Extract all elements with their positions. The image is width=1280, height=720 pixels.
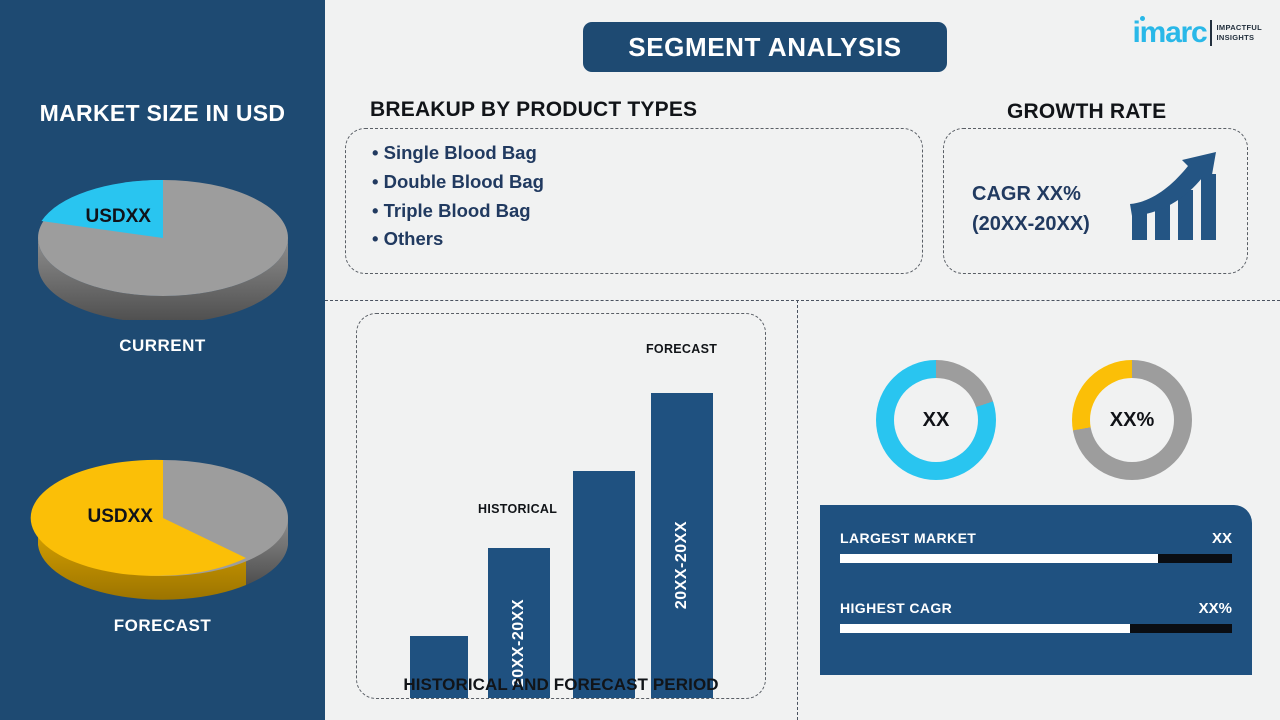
market-share-donut-center: XX xyxy=(894,378,978,462)
growth-arrow-bars-icon xyxy=(1126,146,1226,246)
largest-market-label: LARGEST MARKET xyxy=(840,530,976,546)
cagr-donut-center: XX% xyxy=(1090,378,1174,462)
highest-cagr-progress-fill xyxy=(840,624,1130,633)
bar-4-label: 20XX-20XX xyxy=(673,521,691,609)
imarc-logo: imarc IMPACTFUL INSIGHTS xyxy=(1132,12,1262,54)
historical-period-label: HISTORICAL xyxy=(478,502,557,516)
bar-chart-plot: 20XX-20XX 20XX-20XX HISTORICAL FORECAST xyxy=(357,314,765,698)
market-share-donut-value: XX xyxy=(923,409,950,432)
logo-wordmark: imarc xyxy=(1132,18,1206,48)
historical-forecast-chart-box: 20XX-20XX 20XX-20XX HISTORICAL FORECAST xyxy=(356,313,766,699)
cagr-text: CAGR XX% (20XX-20XX) xyxy=(972,179,1090,239)
current-pie-svg xyxy=(28,160,298,320)
highest-cagr-label: HIGHEST CAGR xyxy=(840,600,952,616)
vertical-divider xyxy=(797,300,798,720)
cagr-donut: XX% xyxy=(1072,360,1192,480)
page-title-banner: SEGMENT ANALYSIS xyxy=(583,22,947,72)
cagr-line-1: CAGR XX% xyxy=(972,179,1090,209)
logo-tagline-line1: IMPACTFUL xyxy=(1217,23,1262,33)
forecast-pie-caption: FORECAST xyxy=(0,616,325,636)
largest-market-progress-fill xyxy=(840,554,1158,563)
market-size-sidebar: MARKET SIZE IN USD xyxy=(0,0,325,720)
highest-cagr-progress-track xyxy=(840,624,1232,633)
cagr-line-2: (20XX-20XX) xyxy=(972,209,1090,239)
product-types-title: BREAKUP BY PRODUCT TYPES xyxy=(370,98,697,122)
key-stats-panel: LARGEST MARKET XX HIGHEST CAGR XX% xyxy=(820,505,1252,675)
highest-cagr-stat: HIGHEST CAGR XX% xyxy=(840,600,1232,633)
highest-cagr-value: XX% xyxy=(1199,600,1232,617)
bar-2-label: 20XX-20XX xyxy=(510,599,528,687)
largest-market-value: XX xyxy=(1212,530,1232,547)
list-item: Others xyxy=(372,225,912,254)
chart-caption: HISTORICAL AND FORECAST PERIOD xyxy=(356,675,766,695)
logo-text: imarc xyxy=(1132,16,1206,49)
forecast-pie-chart: USDXX xyxy=(28,440,298,600)
bar-4: 20XX-20XX xyxy=(651,393,713,698)
current-pie-chart: USDXX xyxy=(28,160,298,320)
horizontal-divider xyxy=(325,300,1280,301)
current-pie-block: USDXX CURRENT xyxy=(0,160,325,356)
current-pie-caption: CURRENT xyxy=(0,336,325,356)
product-types-list: Single Blood Bag Double Blood Bag Triple… xyxy=(372,139,912,254)
largest-market-stat: LARGEST MARKET XX xyxy=(840,530,1232,563)
logo-tagline-line2: INSIGHTS xyxy=(1217,33,1262,43)
forecast-pie-svg xyxy=(28,440,298,600)
logo-divider xyxy=(1210,20,1212,46)
market-share-donut: XX xyxy=(876,360,996,480)
cagr-donut-value: XX% xyxy=(1110,409,1154,432)
growth-rate-title: GROWTH RATE xyxy=(1007,100,1166,124)
infographic-root: MARKET SIZE IN USD xyxy=(0,0,1280,720)
page-title: SEGMENT ANALYSIS xyxy=(628,32,902,63)
list-item: Triple Blood Bag xyxy=(372,197,912,226)
logo-tagline: IMPACTFUL INSIGHTS xyxy=(1217,23,1262,43)
forecast-pie-block: USDXX FORECAST xyxy=(0,440,325,636)
list-item: Double Blood Bag xyxy=(372,168,912,197)
sidebar-title: MARKET SIZE IN USD xyxy=(0,100,325,127)
forecast-period-label: FORECAST xyxy=(646,342,717,356)
bar-3 xyxy=(573,471,635,698)
list-item: Single Blood Bag xyxy=(372,139,912,168)
largest-market-progress-track xyxy=(840,554,1232,563)
